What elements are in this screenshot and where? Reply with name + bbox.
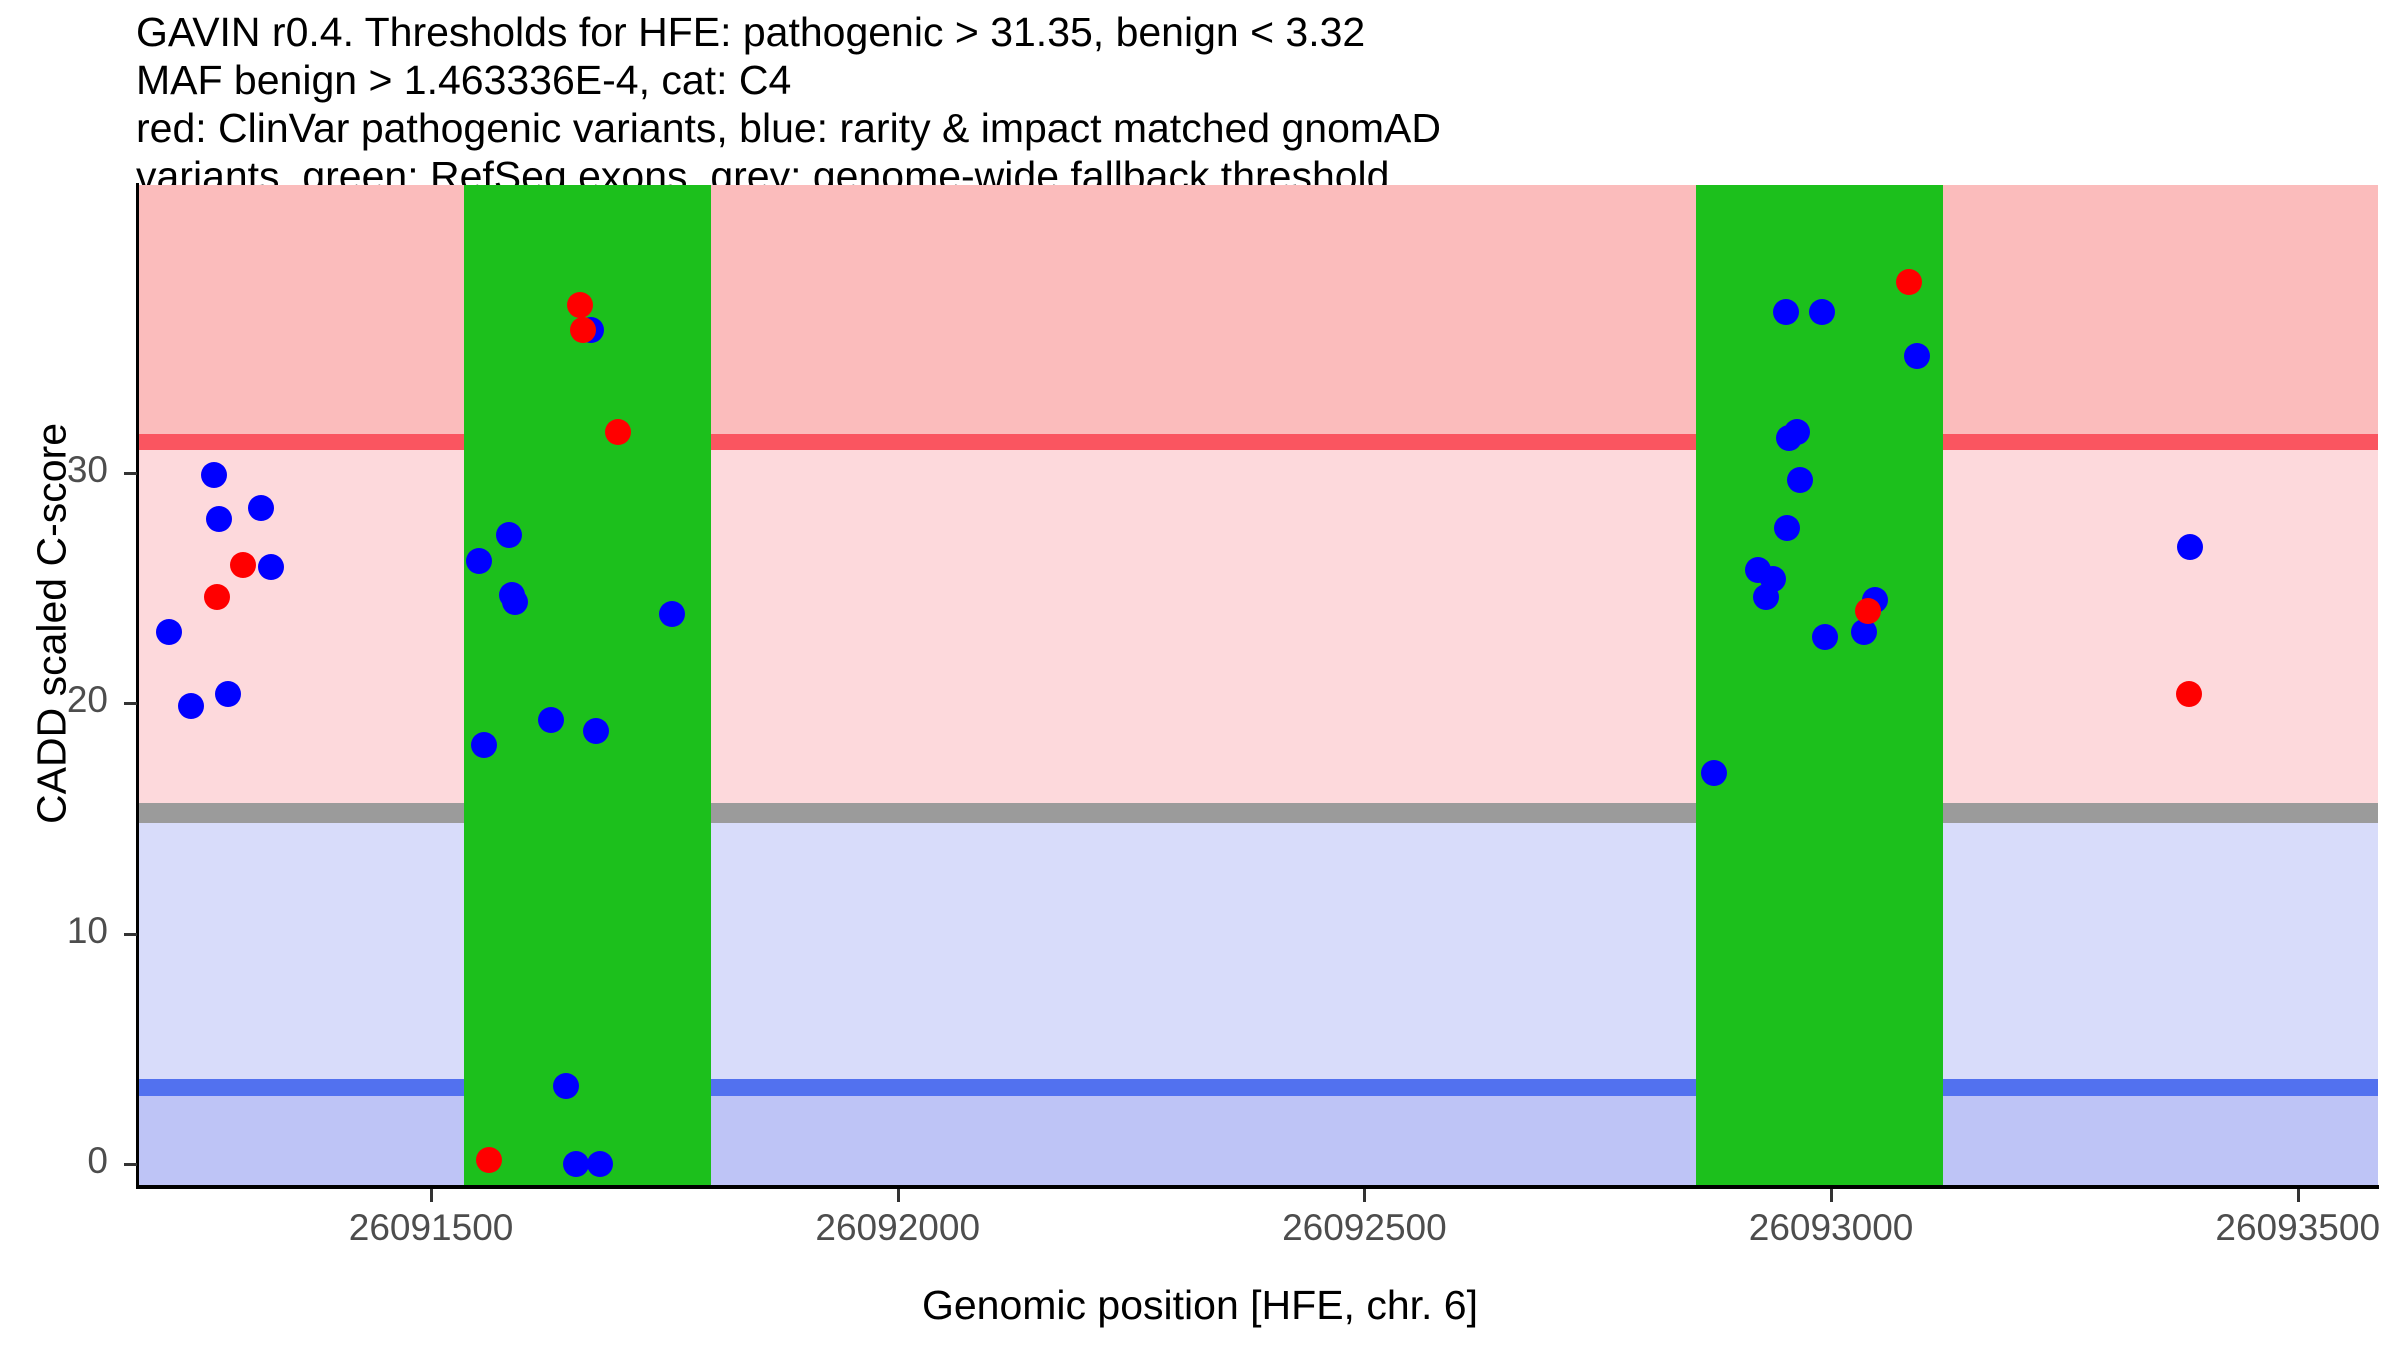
x-axis-title: Genomic position [HFE, chr. 6] (0, 1282, 2400, 1329)
y-tick (124, 1163, 137, 1166)
gnomad-variant-point[interactable] (215, 681, 241, 707)
y-axis-title: CADD scaled C-score (29, 274, 76, 974)
y-tick (124, 933, 137, 936)
gnomad-variant-point[interactable] (563, 1151, 589, 1177)
gnomad-variant-point[interactable] (1809, 299, 1835, 325)
exon-band-2 (1696, 185, 1943, 1185)
gnomad-variant-point[interactable] (248, 495, 274, 521)
x-tick (2297, 1189, 2300, 1202)
gnomad-variant-point[interactable] (1760, 566, 1786, 592)
gnomad-variant-point[interactable] (538, 707, 564, 733)
x-tick-label: 26092000 (768, 1207, 1028, 1249)
title-line-3: red: ClinVar pathogenic variants, blue: … (136, 104, 2336, 152)
x-tick (1830, 1189, 1833, 1202)
gnomad-variant-point[interactable] (1812, 624, 1838, 650)
gnomad-variant-point[interactable] (1784, 419, 1810, 445)
gnomad-variant-point[interactable] (156, 619, 182, 645)
gnomad-variant-point[interactable] (1773, 299, 1799, 325)
x-tick (897, 1189, 900, 1202)
title-line-1: GAVIN r0.4. Thresholds for HFE: pathogen… (136, 8, 2336, 56)
pathogenic-variant-point[interactable] (2176, 681, 2202, 707)
x-axis-line (136, 1185, 2379, 1189)
gnomad-variant-point[interactable] (659, 601, 685, 627)
title-line-2: MAF benign > 1.463336E-4, cat: C4 (136, 56, 2336, 104)
chart-root: GAVIN r0.4. Thresholds for HFE: pathogen… (0, 0, 2400, 1350)
gnomad-variant-point[interactable] (2177, 534, 2203, 560)
x-tick (1363, 1189, 1366, 1202)
y-tick-label: 0 (0, 1140, 108, 1182)
x-tick-label: 26092500 (1234, 1207, 1494, 1249)
y-tick (124, 472, 137, 475)
x-tick-label: 26093500 (2168, 1207, 2400, 1249)
x-tick (430, 1189, 433, 1202)
plot-title: GAVIN r0.4. Thresholds for HFE: pathogen… (136, 8, 2336, 200)
y-tick (124, 702, 137, 705)
pathogenic-variant-point[interactable] (605, 419, 631, 445)
gnomad-variant-point[interactable] (471, 732, 497, 758)
gnomad-variant-point[interactable] (1787, 467, 1813, 493)
x-tick-label: 26093000 (1701, 1207, 1961, 1249)
plot-panel (138, 185, 2378, 1185)
y-axis-line (136, 183, 139, 1187)
gnomad-variant-point[interactable] (178, 693, 204, 719)
gnomad-variant-point[interactable] (466, 548, 492, 574)
pathogenic-variant-point[interactable] (230, 552, 256, 578)
pathogenic-variant-point[interactable] (476, 1147, 502, 1173)
gnomad-variant-point[interactable] (502, 589, 528, 615)
x-tick-label: 26091500 (301, 1207, 561, 1249)
gnomad-variant-point[interactable] (1701, 760, 1727, 786)
gnomad-variant-point[interactable] (496, 522, 522, 548)
gnomad-variant-point[interactable] (201, 462, 227, 488)
gnomad-variant-point[interactable] (1904, 343, 1930, 369)
